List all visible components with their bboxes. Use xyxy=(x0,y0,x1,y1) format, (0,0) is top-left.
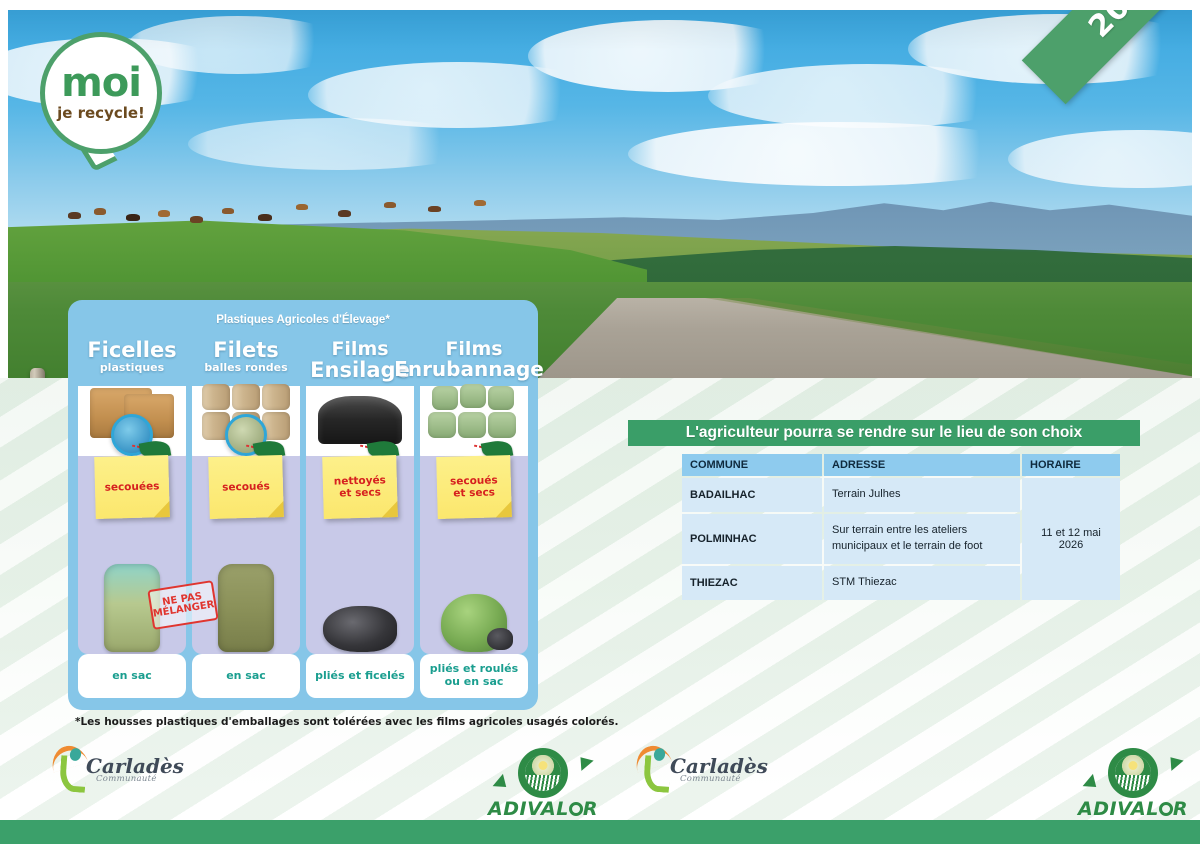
green-wrapped-bales-icon xyxy=(426,382,522,444)
column-subtitle: Enrubannage xyxy=(394,359,544,380)
product-column-ficelles[interactable]: Ficelles plastiques secouées xyxy=(78,338,186,698)
product-photo xyxy=(306,386,414,444)
column-header: Filets balles rondes xyxy=(192,338,300,386)
product-column-filets[interactable]: Filets balles rondes xyxy=(192,338,300,698)
cow xyxy=(258,214,272,221)
cow xyxy=(68,212,81,219)
column-subtitle: plastiques xyxy=(100,362,164,374)
product-columns: Ficelles plastiques secouées xyxy=(78,338,528,698)
adivalor-logo-left: ADIVALR xyxy=(488,748,598,818)
carlades-subtitle: Communauté xyxy=(680,774,741,784)
column-footer: en sac xyxy=(78,654,186,698)
cow xyxy=(94,208,106,215)
products-panel: Plastiques Agricoles d'Élevage* Ficelles… xyxy=(68,300,538,710)
sticky-note-text: secoués et secs xyxy=(442,474,506,500)
adivalor-wordmark: ADIVALR xyxy=(1078,798,1188,820)
panel-title: Plastiques Agricoles d'Élevage* xyxy=(80,308,526,332)
schedule-table: COMMUNE ADRESSE HORAIRE BADAILHAC Terrai… xyxy=(680,452,1122,602)
column-header-commune: COMMUNE xyxy=(682,454,822,476)
field-icon xyxy=(1115,775,1151,791)
schedule-title-text: L'agriculteur pourra se rendre sur le li… xyxy=(686,424,1082,442)
panel-title-text: Plastiques Agricoles d'Élevage* xyxy=(216,314,390,326)
speech-bubble: moi je recycle! xyxy=(40,32,162,154)
table-header-row: COMMUNE ADRESSE HORAIRE xyxy=(682,454,1120,476)
square-hay-bale-icon xyxy=(84,382,180,444)
sun-icon xyxy=(539,761,548,770)
recycle-arrow-icon xyxy=(574,752,593,771)
carlades-logo-right: Carladès Communauté xyxy=(628,740,748,796)
sticky-note: secoués xyxy=(208,455,284,519)
carlades-logo-left: Carladès Communauté xyxy=(44,740,164,796)
sticky-note: secouées xyxy=(94,455,170,519)
cow xyxy=(428,206,441,212)
cow xyxy=(474,200,486,206)
cell-commune: BADAILHAC xyxy=(682,478,822,512)
green-film-pile-icon xyxy=(441,594,507,652)
column-footer-text: en sac xyxy=(112,670,152,683)
recycle-arrow-icon xyxy=(493,774,512,793)
column-footer-text: pliés et roulés ou en sac xyxy=(430,663,518,688)
panel-footnote: *Les housses plastiques d'emballages son… xyxy=(75,716,618,728)
cow xyxy=(338,210,351,217)
cell-commune: POLMINHAC xyxy=(682,514,822,564)
recycle-arrow-icon xyxy=(1164,752,1183,771)
cell-adresse: STM Thiezac xyxy=(824,566,1020,600)
column-footer-text: en sac xyxy=(226,670,266,683)
olive-sack-icon xyxy=(218,564,274,652)
adivalor-wordmark: ADIVALR xyxy=(488,798,598,820)
column-header: Ficelles plastiques xyxy=(78,338,186,386)
sun-icon xyxy=(1129,761,1138,770)
bottom-green-bar xyxy=(0,820,1200,844)
adivalor-logo-right: ADIVALR xyxy=(1078,748,1188,818)
table-row: BADAILHAC Terrain Julhes 11 et 12 mai 20… xyxy=(682,478,1120,512)
cow xyxy=(296,204,308,210)
stamp-text: NE PAS MÉLANGER xyxy=(151,590,216,620)
field-icon xyxy=(525,775,561,791)
product-photo xyxy=(78,386,186,444)
recycle-arrow-icon xyxy=(1083,774,1102,793)
cow xyxy=(126,214,140,221)
moi-je-recycle-logo: moi je recycle! xyxy=(40,32,162,154)
column-header: Films Enrubannage xyxy=(420,338,528,386)
cow xyxy=(222,208,234,214)
logo-line-1: moi xyxy=(61,65,141,101)
cell-adresse: Terrain Julhes xyxy=(824,478,1020,512)
column-subtitle: balles rondes xyxy=(204,362,287,374)
product-photo xyxy=(420,386,528,444)
sticky-note: secoués et secs xyxy=(436,455,512,519)
cell-adresse: Sur terrain entre les ateliers municipau… xyxy=(824,514,1020,564)
field-sun-icon xyxy=(1115,755,1151,791)
logo-line-2: je recycle! xyxy=(57,104,145,122)
adivalor-o-icon xyxy=(569,802,583,816)
column-footer: pliés et roulés ou en sac xyxy=(420,654,528,698)
sticky-note-text: secoués xyxy=(218,480,274,494)
hero-top-shade xyxy=(8,10,1192,50)
column-header-adresse: ADRESSE xyxy=(824,454,1020,476)
cloud xyxy=(628,122,1048,186)
product-column-films-ensilage[interactable]: Films Ensilage nettoyés et secs xyxy=(306,338,414,698)
cell-commune: THIEZAC xyxy=(682,566,822,600)
black-silage-film-icon xyxy=(312,382,408,444)
cloud xyxy=(188,118,488,170)
column-footer: pliés et ficelés xyxy=(306,654,414,698)
column-title: Films xyxy=(331,340,388,359)
column-title: Filets xyxy=(213,340,279,361)
product-column-films-enrubannage[interactable]: Films Enrubannage xyxy=(420,338,528,698)
product-photo xyxy=(192,386,300,444)
black-film-pile-icon xyxy=(323,606,397,652)
cow xyxy=(384,202,396,208)
carlades-subtitle: Communauté xyxy=(96,774,157,784)
field-sun-icon xyxy=(525,755,561,791)
poster-page: 2026 moi je recycle! Plastiques Agricole… xyxy=(0,0,1200,844)
sack-illustration xyxy=(218,564,274,652)
sticky-note-text: secouées xyxy=(100,480,163,494)
cow xyxy=(190,216,203,223)
column-header-horaire: HORAIRE xyxy=(1022,454,1120,476)
sticky-note-text: nettoyés et secs xyxy=(326,474,395,500)
round-hay-bales-icon xyxy=(198,382,294,444)
column-footer: en sac xyxy=(192,654,300,698)
cow xyxy=(158,210,170,217)
schedule-title-bar: L'agriculteur pourra se rendre sur le li… xyxy=(628,420,1140,446)
cell-horaire: 11 et 12 mai 2026 xyxy=(1022,478,1120,600)
wire-fence xyxy=(624,368,1192,378)
sticky-note: nettoyés et secs xyxy=(322,455,398,519)
adivalor-o-icon xyxy=(1159,802,1173,816)
column-title: Ficelles xyxy=(87,340,176,361)
column-footer-text: pliés et ficelés xyxy=(315,670,405,683)
